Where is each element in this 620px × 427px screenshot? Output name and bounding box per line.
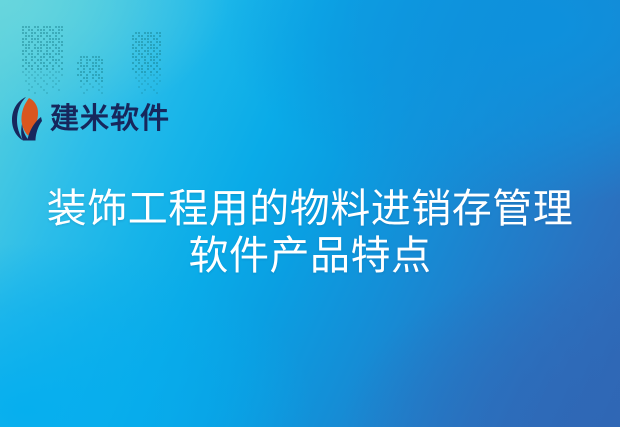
tower-center [22, 26, 64, 95]
page-title: 装饰工程用的物料进销存管理 软件产品特点 [0, 186, 620, 280]
marketing-banner: 建米软件 装饰工程用的物料进销存管理 软件产品特点 [0, 0, 620, 427]
tower-right [132, 32, 162, 95]
tower-left [77, 56, 107, 95]
brand-logo: 建米软件 [11, 94, 170, 142]
page-title-line-2: 软件产品特点 [0, 233, 620, 280]
jianmi-logo-mark-icon [11, 96, 44, 141]
page-title-line-1: 装饰工程用的物料进销存管理 [0, 186, 620, 233]
pixel-cityscape-decoration [22, 0, 152, 95]
brand-name-text: 建米软件 [50, 104, 170, 133]
